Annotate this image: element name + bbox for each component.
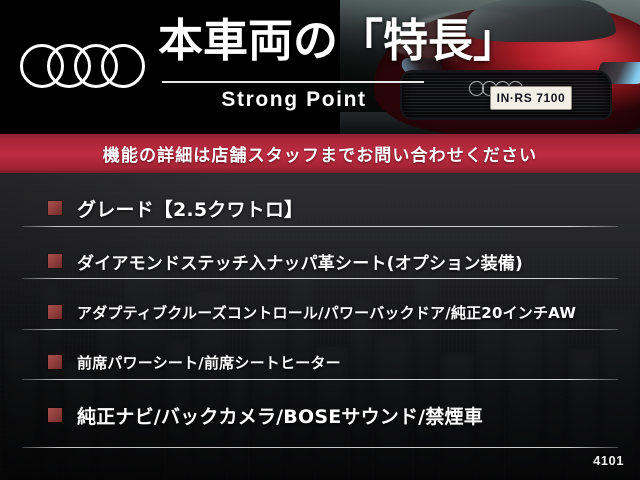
list-item-label: 前席パワーシート/前席シートヒーター <box>77 352 341 373</box>
title-divider <box>162 81 424 83</box>
list-item: アダプティブクルーズコントロール/パワーバックドア/純正20インチAW <box>0 299 640 325</box>
list-divider <box>22 226 618 227</box>
list-divider <box>22 447 618 448</box>
list-item: グレード【2.5クワトロ】 <box>0 194 640 222</box>
bullet-square-icon <box>48 408 62 422</box>
list-item: 純正ナビ/バックカメラ/BOSEサウンド/禁煙車 <box>0 401 640 429</box>
photo-license-plate: IN·RS 7100 <box>490 86 572 110</box>
vehicle-feature-slide: IN·RS 7100 本車両の「特長」 Strong Point 機能の詳細は店… <box>0 0 640 480</box>
bullet-square-icon <box>48 355 62 369</box>
audi-rings-icon <box>20 44 144 90</box>
contact-banner: 機能の詳細は店舗スタッフまでお問い合わせください <box>0 134 640 173</box>
feature-list: グレード【2.5クワトロ】 ダイアモンドステッチ入ナッパ革シート(オプション装備… <box>0 173 640 480</box>
bullet-square-icon <box>48 201 62 215</box>
list-item: ダイアモンドステッチ入ナッパ革シート(オプション装備) <box>0 248 640 274</box>
bullet-square-icon <box>48 305 62 319</box>
list-item-label: グレード【2.5クワトロ】 <box>77 195 303 222</box>
list-item-label: 純正ナビ/バックカメラ/BOSEサウンド/禁煙車 <box>77 402 483 429</box>
list-item-label: アダプティブクルーズコントロール/パワーバックドア/純正20インチAW <box>77 302 576 323</box>
page-title-en: Strong Point <box>162 88 426 112</box>
list-divider <box>22 278 618 279</box>
slide-code: 4101 <box>593 453 624 468</box>
list-divider <box>22 379 618 380</box>
contact-banner-text: 機能の詳細は店舗スタッフまでお問い合わせください <box>103 141 537 166</box>
list-divider <box>22 329 618 330</box>
list-item: 前席パワーシート/前席シートヒーター <box>0 349 640 375</box>
page-title-jp: 本車両の「特長」 <box>158 18 518 63</box>
slide-header: IN·RS 7100 本車両の「特長」 Strong Point <box>0 0 640 134</box>
bullet-square-icon <box>48 254 62 268</box>
list-item-label: ダイアモンドステッチ入ナッパ革シート(オプション装備) <box>77 249 523 274</box>
